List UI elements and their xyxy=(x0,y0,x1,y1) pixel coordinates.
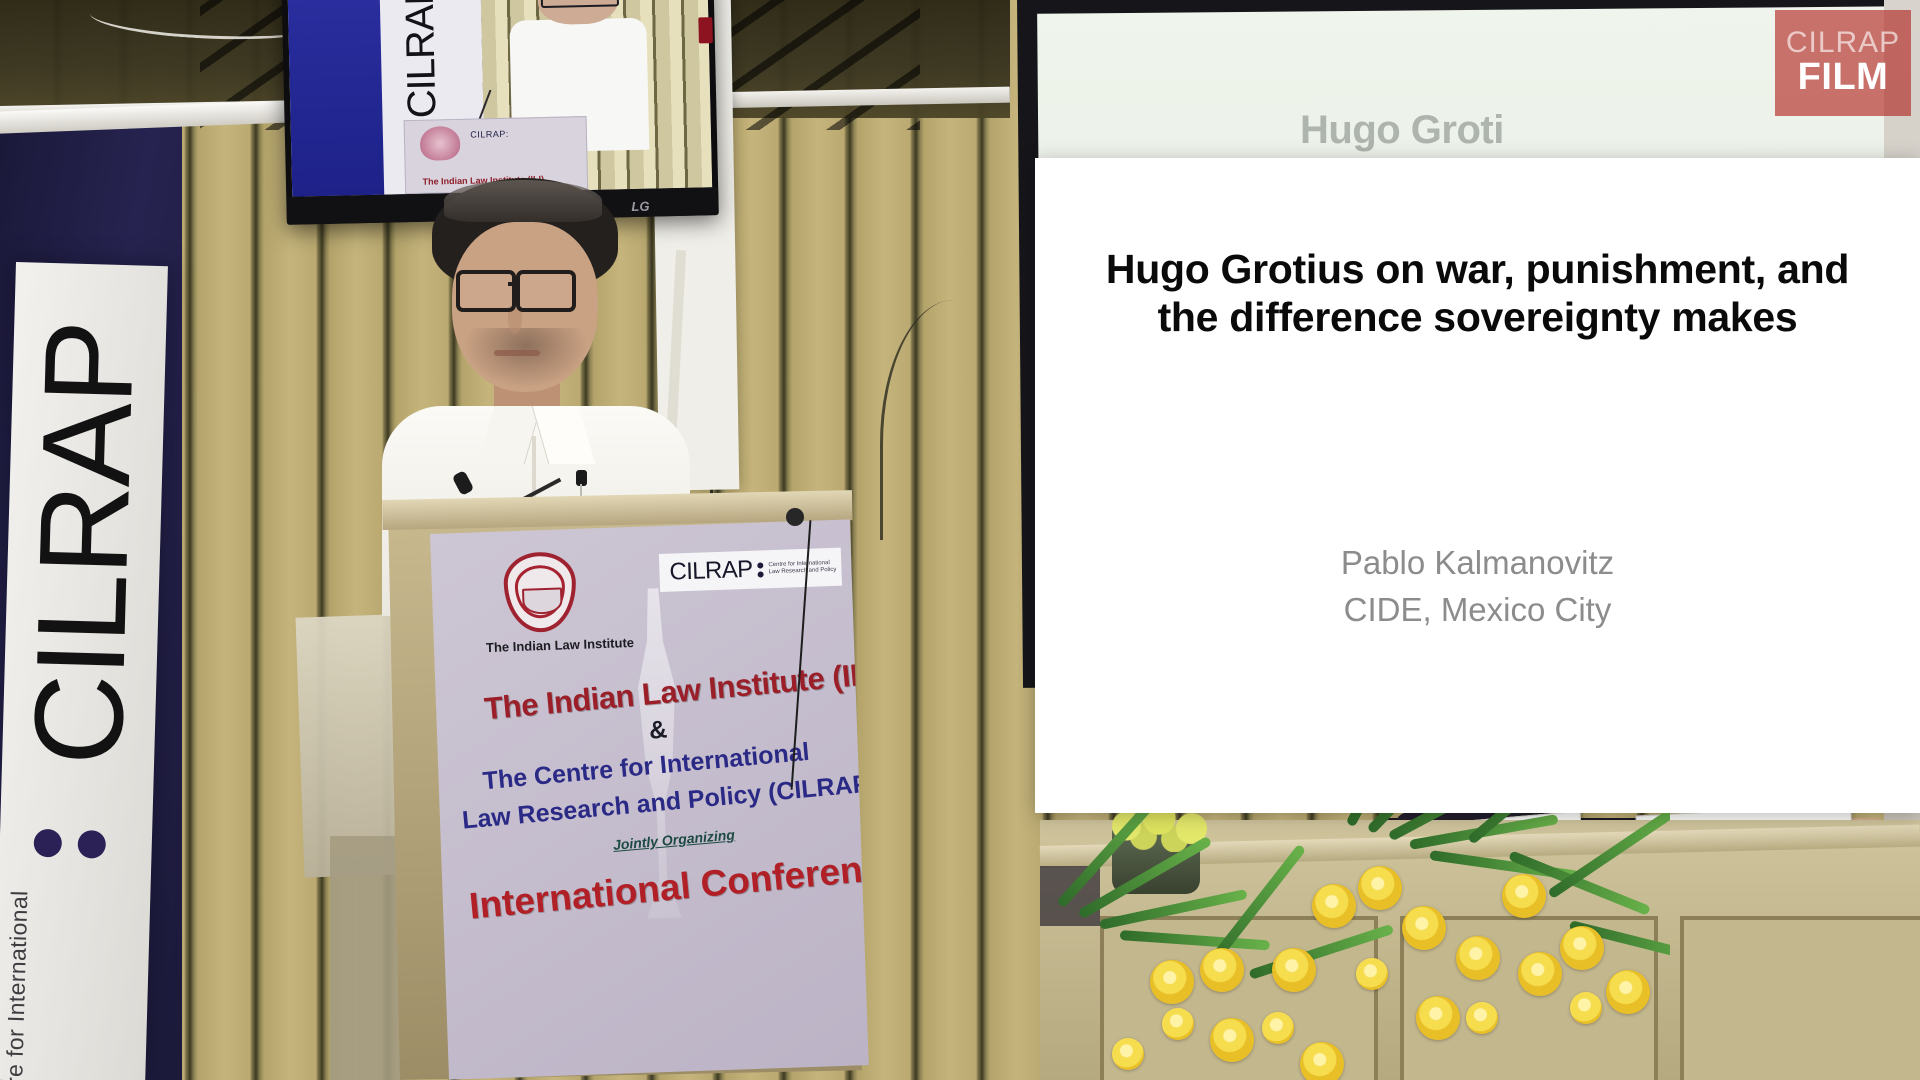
speaker-beard-shadow xyxy=(464,328,588,388)
left-banner-tagline: Centre for International Law Research an… xyxy=(0,890,152,1080)
video-frame: Hugo Groti R y n C CILRAP Centre for Int… xyxy=(0,0,1920,1080)
banner-line-ili: The Indian Law Institute (ILI) xyxy=(483,655,869,727)
slide-author-name: Pablo Kalmanovitz xyxy=(1095,540,1860,587)
cilrap-colon-dots-icon xyxy=(757,562,764,577)
left-banner-white-strip: CILRAP Centre for International Law Rese… xyxy=(0,262,168,1080)
watermark-top-label: CILRAP xyxy=(1786,28,1900,58)
rose-bouquet xyxy=(1050,780,1670,1080)
cilrap-logo-block: CILRAP Centre for International Law Rese… xyxy=(659,548,842,592)
speaker-hair-highlight xyxy=(444,180,602,222)
speaker-glasses-bridge xyxy=(508,282,518,286)
cilrap-logo-subtitle: Centre for International Law Research an… xyxy=(768,559,836,576)
table-panel xyxy=(1680,916,1920,1080)
banner-jointly-organizing: Jointly Organizing xyxy=(612,826,735,853)
cilrap-film-watermark: CILRAP FILM xyxy=(1775,10,1911,116)
watermark-bottom-label: FILM xyxy=(1798,58,1889,98)
chair-lower xyxy=(330,836,404,1080)
ili-logo-icon xyxy=(503,551,578,633)
slide-author-affiliation: CIDE, Mexico City xyxy=(1095,587,1860,634)
ili-logo-caption: The Indian Law Institute xyxy=(486,635,634,655)
slide-overlay-panel: Hugo Grotius on war, punishment, and the… xyxy=(1035,158,1920,813)
slide-author-block: Pablo Kalmanovitz CIDE, Mexico City xyxy=(1095,540,1860,634)
tv-banner-brand-text: CILRAP xyxy=(397,0,445,119)
tv-banner-brand: CILRAP xyxy=(397,0,446,130)
tv-red-indicator xyxy=(698,17,713,43)
podium-cable-knob xyxy=(786,508,804,526)
slide-title: Hugo Grotius on war, punishment, and the… xyxy=(1095,246,1860,342)
banner-ampersand: & xyxy=(648,715,669,745)
speaker-mouth xyxy=(494,350,540,356)
speaker-glasses-left-lens xyxy=(456,270,516,312)
speaker-glasses-right-lens xyxy=(516,270,576,312)
tv-screen: CILRAP Law Research CILRAP: The Indian L… xyxy=(287,0,712,197)
left-banner-brand-text: CILRAP xyxy=(20,321,148,767)
cilrap-colon-dots-icon xyxy=(33,829,118,873)
cilrap-sub-line2: Law Research and Policy xyxy=(769,567,837,575)
left-banner-tagline-line1: Centre for International xyxy=(0,890,37,1080)
projector-ghost-text: Hugo Groti xyxy=(1300,108,1504,153)
cilrap-logo-word: CILRAP xyxy=(669,556,753,587)
left-banner-brand: CILRAP xyxy=(0,262,168,826)
tv-podium-ili-logo-icon xyxy=(420,126,460,161)
tv-podium-cilrap-text: CILRAP: xyxy=(470,129,509,140)
